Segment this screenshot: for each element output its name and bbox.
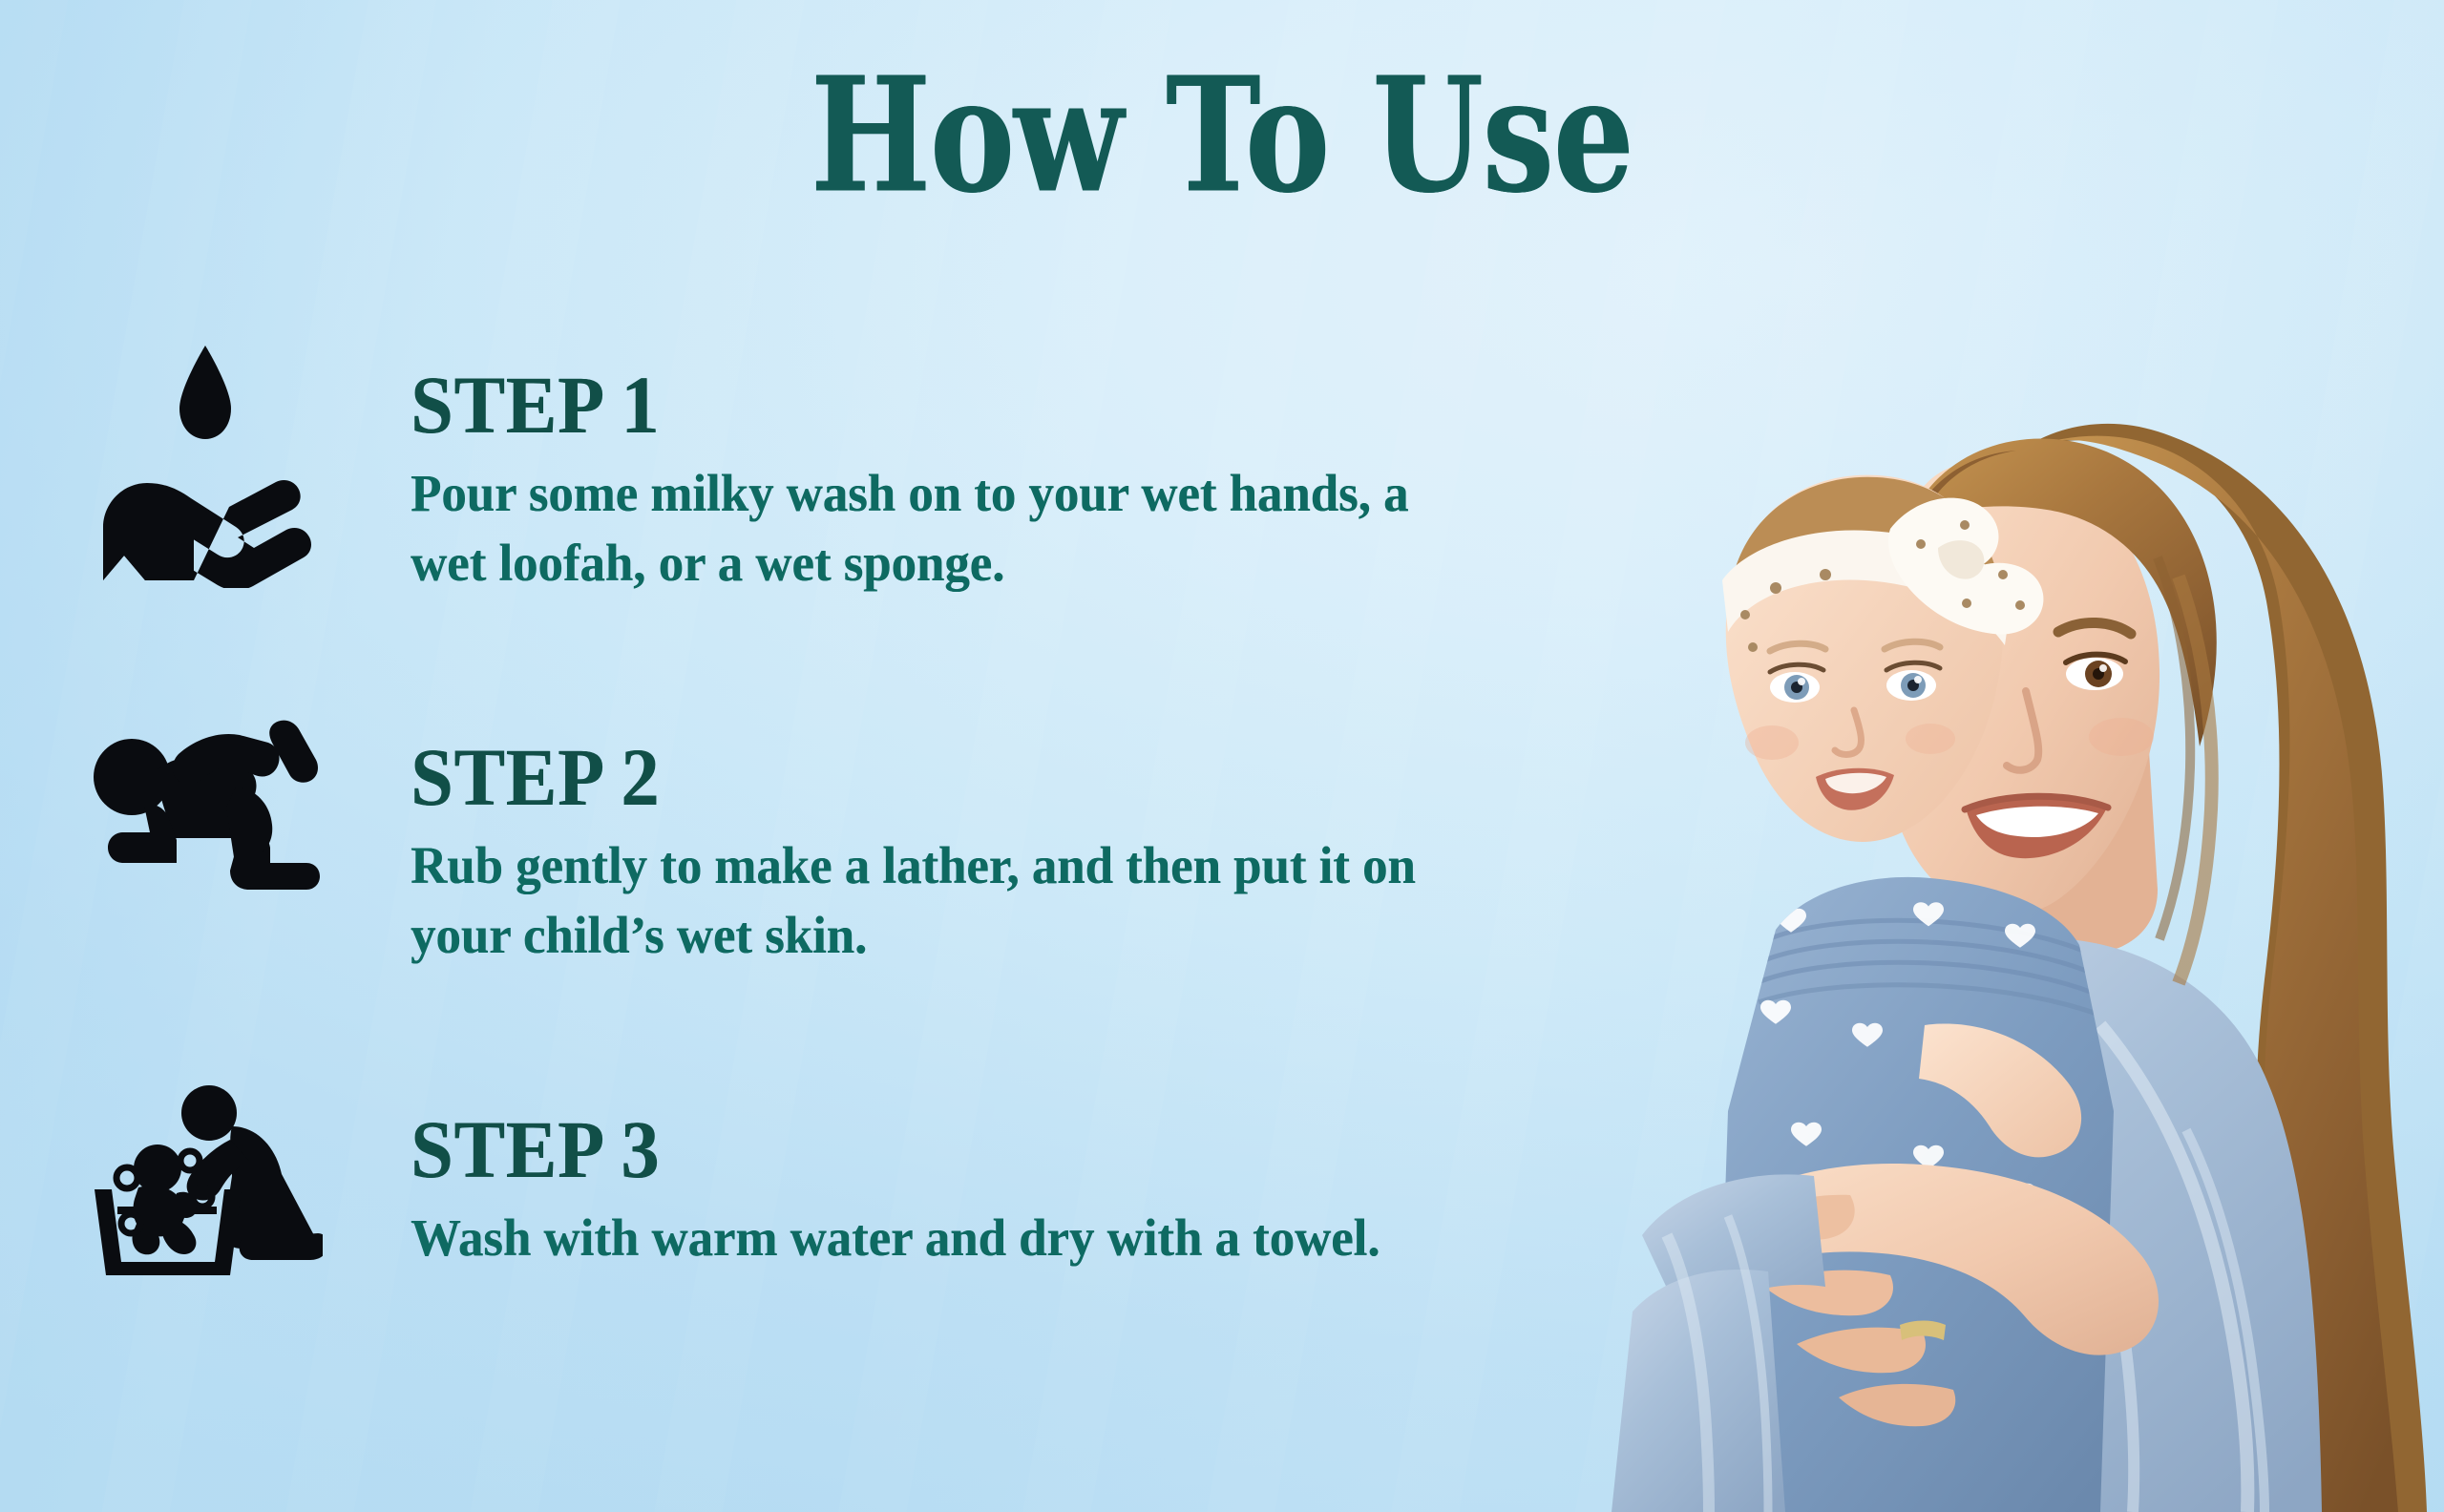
step-3-heading: STEP 3 bbox=[411, 1109, 1350, 1189]
page-title: How To Use bbox=[122, 52, 2322, 219]
step-2-icon-wrap bbox=[0, 708, 411, 913]
step-3-icon-wrap bbox=[0, 1081, 411, 1299]
step-2-body: STEP 2 Rub gently to make a lather, and … bbox=[411, 708, 1480, 971]
step-1-icon-wrap bbox=[0, 336, 411, 588]
step-item-3: STEP 3 Wash with warm water and dry with… bbox=[0, 1081, 1547, 1453]
mother-and-baby-illustration bbox=[1489, 271, 2444, 1512]
steps-list: STEP 1 Pour some milky wash on to your w… bbox=[0, 336, 1547, 1453]
baby-crawling-with-hand-applying-icon bbox=[91, 712, 320, 913]
step-item-1: STEP 1 Pour some milky wash on to your w… bbox=[0, 336, 1547, 708]
step-3-description: Wash with warm water and dry with a towe… bbox=[411, 1203, 1380, 1272]
adult-bathing-baby-in-tub-icon bbox=[89, 1084, 323, 1299]
step-1-body: STEP 1 Pour some milky wash on to your w… bbox=[411, 336, 1480, 598]
step-1-description: Pour some milky wash on to your wet hand… bbox=[411, 458, 1437, 598]
step-2-description: Rub gently to make a lather, and then pu… bbox=[411, 830, 1437, 970]
step-1-heading: STEP 1 bbox=[411, 365, 1405, 445]
hand-with-water-drop-icon bbox=[95, 340, 315, 588]
step-item-2: STEP 2 Rub gently to make a lather, and … bbox=[0, 708, 1547, 1081]
step-2-heading: STEP 2 bbox=[411, 737, 1405, 817]
step-3-body: STEP 3 Wash with warm water and dry with… bbox=[411, 1081, 1421, 1272]
poster-canvas: How To Use STEP 1 Pour some milky wash o… bbox=[0, 0, 2444, 1512]
mother-and-baby-photo bbox=[1489, 271, 2444, 1512]
